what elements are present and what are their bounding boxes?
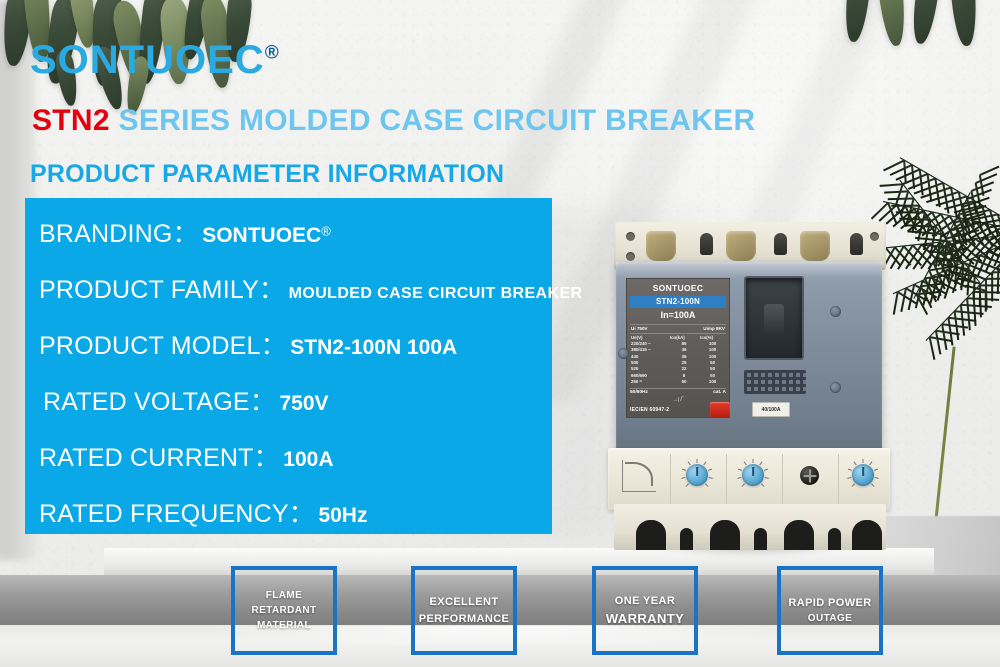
palm-blade <box>880 183 903 187</box>
spec-label-product-model: PRODUCT MODEL <box>39 332 261 360</box>
table-row: 250 =50100 <box>630 379 726 385</box>
breaker-toggle-window <box>744 276 804 360</box>
label-frequency: 50/60Hz <box>630 390 648 396</box>
spec-colon: ： <box>173 220 198 248</box>
label-footer-line: 50/60Hz cat. A <box>630 388 726 396</box>
feature-badge-one-year-warranty[interactable]: ONE YEAR WARRANTY <box>592 566 698 655</box>
headline-model: STN2 <box>32 104 110 137</box>
spec-value-product-model: STN2-100N 100A <box>290 336 457 359</box>
spec-colon: ： <box>250 388 275 416</box>
label-table-body: 220/240 ~85100 380/415 ~36100 44035100 5… <box>630 341 726 386</box>
label-brand: SONTUOEC <box>630 283 726 294</box>
body-screw-icon <box>830 306 841 317</box>
badge-line-2: WARRANTY <box>606 609 684 629</box>
palm-blade <box>900 288 907 312</box>
palm-blade <box>935 330 942 354</box>
page-title: STN2 SERIES MOLDED CASE CIRCUIT BREAKER <box>32 104 755 138</box>
badge-line-2: PERFORMANCE <box>419 611 510 628</box>
spec-value-product-family: MOULDED CASE CIRCUIT BREAKER <box>289 285 583 302</box>
spec-row-product-model: PRODUCT MODEL： STN2-100N 100A <box>39 326 457 362</box>
breaker-toggle-handle[interactable] <box>764 304 784 334</box>
badge-line-1: FLAME RETARDANT <box>235 588 333 618</box>
sealing-screw-icon <box>800 466 819 485</box>
cell-ue: 250 = <box>630 379 669 385</box>
palm-blade <box>904 224 936 228</box>
spec-colon: ： <box>289 500 314 528</box>
spec-colon: ： <box>254 444 279 472</box>
palm-blade <box>929 336 952 342</box>
label-category: cat. A <box>713 390 726 396</box>
spec-row-rated-frequency: RATED FREQUENCY： 50Hz <box>39 494 367 530</box>
trip-setting-dial-3[interactable] <box>852 464 874 486</box>
palm-blade <box>928 337 935 360</box>
registered-trademark-icon: ® <box>265 43 280 64</box>
label-ui: Ui 750V <box>631 326 648 332</box>
spec-value-rated-voltage: 750V <box>279 392 328 415</box>
headline-rest: SERIES MOLDED CASE CIRCUIT BREAKER <box>110 104 756 137</box>
brand-name: SONTUOEC <box>30 38 265 82</box>
spec-value-rated-current: 100A <box>283 448 333 471</box>
breaker-body: SONTUOEC STN2-100N In=100A Ui 750V Uimp … <box>616 262 882 454</box>
feature-badge-excellent-performance[interactable]: EXCELLENT PERFORMANCE <box>411 566 517 655</box>
palm-blade <box>916 291 939 295</box>
brand-logo-text: SONTUOEC® <box>30 38 280 83</box>
spec-row-rated-current: RATED CURRENT： 100A <box>39 438 334 474</box>
spec-registered-icon: ® <box>321 224 331 239</box>
spec-value-branding: SONTUOEC <box>202 224 321 247</box>
trip-setting-dial-2[interactable] <box>742 464 764 486</box>
palm-blade <box>967 297 999 301</box>
label-breaking-capacity-table: Ue(V) Icu(kA) Ics(%) 220/240 ~85100 380/… <box>630 335 726 386</box>
badge-line-2: MATERIAL <box>257 618 311 633</box>
dial-tick <box>697 459 698 463</box>
palm-blade <box>941 324 947 350</box>
label-insulation-line: Ui 750V Uimp 8KV <box>630 324 726 334</box>
breaker-trip-test-button[interactable] <box>710 402 730 418</box>
spec-value-rated-frequency: 50Hz <box>318 504 367 527</box>
body-screw-icon <box>830 382 841 393</box>
label-rated-current: In=100A <box>630 310 726 322</box>
trip-curve-icon <box>622 460 656 492</box>
palm-blade <box>884 190 908 193</box>
feature-badge-flame-retardant[interactable]: FLAME RETARDANT MATERIAL <box>231 566 337 655</box>
spec-colon: ： <box>259 276 284 304</box>
section-title: PRODUCT PARAMETER INFORMATION <box>30 160 504 189</box>
product-parameter-panel: BRANDING： SONTUOEC® PRODUCT FAMILY： MOUL… <box>25 198 552 534</box>
label-uimp: Uimp 8KV <box>703 326 725 332</box>
spec-label-rated-current: RATED CURRENT <box>39 444 254 472</box>
dial-tick <box>863 459 864 463</box>
trip-setting-dial-1[interactable] <box>686 464 708 486</box>
spec-row-product-family: PRODUCT FAMILY： MOULDED CASE CIRCUIT BRE… <box>39 270 583 306</box>
spec-label-product-family: PRODUCT FAMILY <box>39 276 259 304</box>
badge-line-1: EXCELLENT <box>430 594 499 611</box>
palm-blade <box>896 211 925 213</box>
spec-colon: ： <box>261 332 286 360</box>
breaker-arc-vent-grille <box>744 370 806 394</box>
breaker-trip-unit <box>608 448 890 510</box>
badge-line-1: ONE YEAR <box>615 593 675 610</box>
terminal-rating-tag: 40/100A <box>752 402 790 417</box>
bottom-terminal-shroud <box>614 504 886 550</box>
cell-icu: 50 <box>669 379 699 385</box>
spec-label-branding: BRANDING <box>39 220 173 248</box>
product-circuit-breaker: SONTUOEC STN2-100N In=100A Ui 750V Uimp … <box>600 196 900 556</box>
palm-blade <box>991 272 993 301</box>
spec-label-rated-frequency: RATED FREQUENCY <box>39 500 289 528</box>
badge-line-1: RAPID POWER <box>788 595 871 612</box>
body-screw-icon <box>618 348 629 359</box>
spec-row-branding: BRANDING： SONTUOEC® <box>39 214 331 250</box>
breaker-rating-label: SONTUOEC STN2-100N In=100A Ui 750V Uimp … <box>626 278 730 418</box>
dial-tick <box>753 459 754 463</box>
cell-ics: 100 <box>699 379 726 385</box>
spec-row-rated-voltage: RATED VOLTAGE： 750V <box>43 382 329 418</box>
label-model: STN2-100N <box>630 296 726 308</box>
badge-line-2: OUTAGE <box>808 611 852 626</box>
spec-label-rated-voltage: RATED VOLTAGE <box>43 388 250 416</box>
poster-stage: SONTUOEC STN2-100N In=100A Ui 750V Uimp … <box>0 0 1000 667</box>
feature-badge-rapid-power-outage[interactable]: RAPID POWER OUTAGE <box>777 566 883 655</box>
